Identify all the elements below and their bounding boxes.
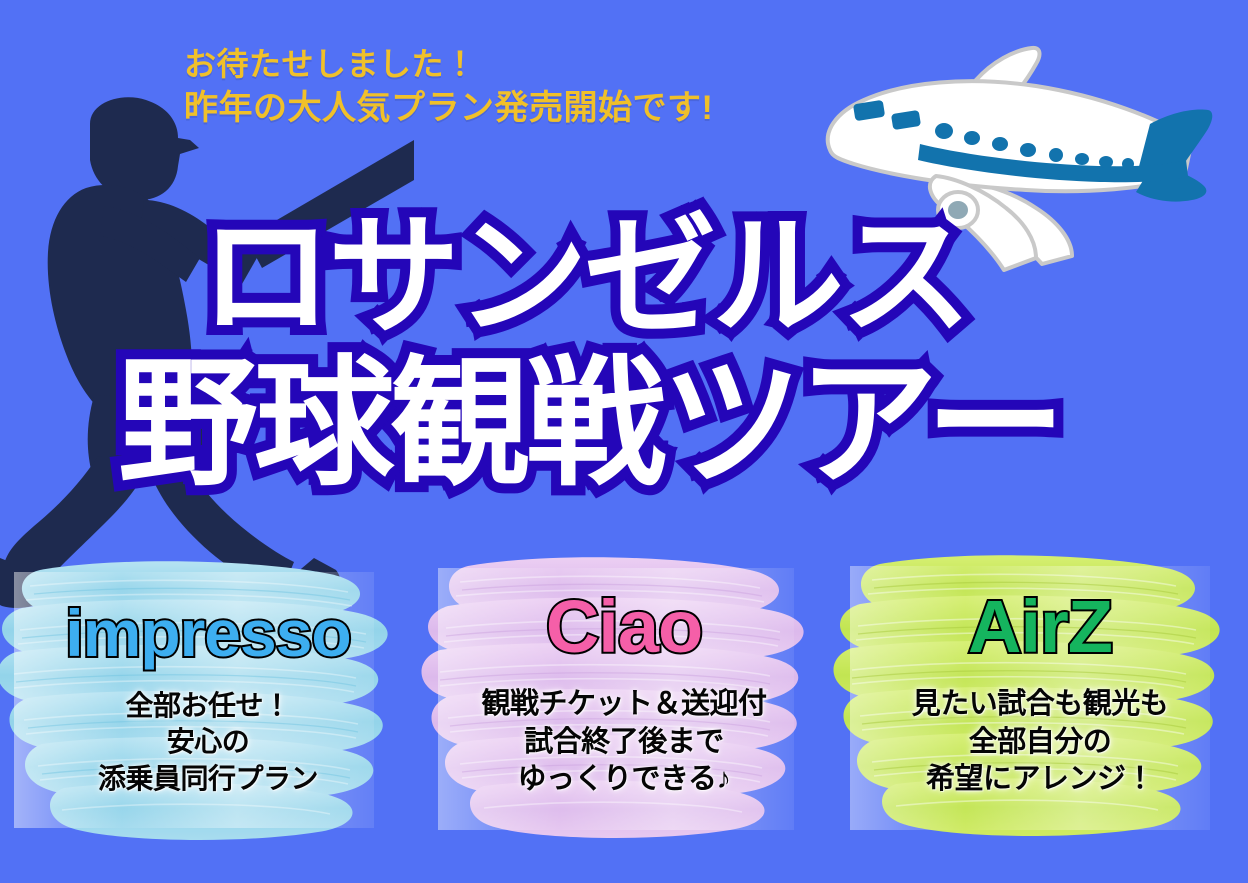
- plan-desc-line: 見たい試合も観光も: [912, 686, 1169, 724]
- catch-copy: お待たせしました！ 昨年の大人気プラン発売開始です!: [184, 44, 713, 130]
- plan-desc-line: 全部自分の: [912, 724, 1169, 762]
- plan-card-ciao[interactable]: Ciao 観戦チケット＆送迎付 試合終了後まで ゆっくりできる♪: [416, 548, 832, 848]
- plan-desc-impresso: 全部お任せ！ 安心の 添乗員同行プラン: [98, 688, 318, 797]
- plan-name-impresso: impresso: [65, 600, 350, 666]
- catch-copy-line-1: お待たせしました！: [184, 44, 713, 86]
- poster-canvas: お待たせしました！ 昨年の大人気プラン発売開始です! ロサンゼルス 野球観戦ツア…: [0, 0, 1248, 883]
- title-line-2: 野球観戦ツアー: [118, 357, 1248, 491]
- airplane-illustration: [800, 28, 1220, 278]
- plan-card-impresso[interactable]: impresso 全部お任せ！ 安心の 添乗員同行プラン: [0, 548, 416, 848]
- plan-card-airz[interactable]: AirZ 見たい試合も観光も 全部自分の 希望にアレンジ！: [832, 548, 1248, 848]
- plan-desc-line: 観戦チケット＆送迎付: [481, 686, 766, 724]
- plan-desc-line: 全部お任せ！: [98, 688, 318, 724]
- plan-desc-line: 添乗員同行プラン: [98, 761, 318, 797]
- plan-name-ciao: Ciao: [546, 590, 702, 664]
- plan-desc-ciao: 観戦チケット＆送迎付 試合終了後まで ゆっくりできる♪: [481, 686, 766, 799]
- plan-desc-line: 試合終了後まで: [481, 724, 766, 762]
- plan-desc-line: 安心の: [98, 724, 318, 760]
- plan-name-airz: AirZ: [968, 590, 1112, 664]
- catch-copy-line-2: 昨年の大人気プラン発売開始です!: [184, 86, 713, 130]
- plan-desc-line: ゆっくりできる♪: [481, 761, 766, 799]
- plan-desc-airz: 見たい試合も観光も 全部自分の 希望にアレンジ！: [912, 686, 1169, 799]
- plan-desc-line: 希望にアレンジ！: [912, 761, 1169, 799]
- title-line-1: ロサンゼルス: [200, 214, 1248, 341]
- page-title: ロサンゼルス 野球観戦ツアー: [0, 214, 1248, 491]
- plan-card-row: impresso 全部お任せ！ 安心の 添乗員同行プラン: [0, 548, 1248, 848]
- baseball-batter-silhouette: [0, 96, 414, 616]
